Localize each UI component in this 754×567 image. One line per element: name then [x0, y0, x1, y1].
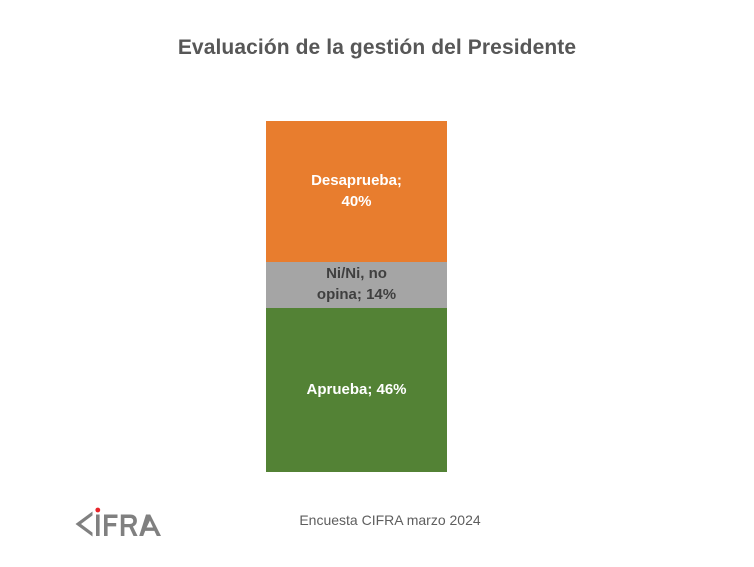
- cifra-logo: [72, 503, 164, 545]
- bar-segment-ni-ni-no-opina[interactable]: Ni/Ni, no opina; 14%: [266, 262, 447, 308]
- cifra-accent-dot-icon: [95, 508, 100, 513]
- bar-segment-desaprueba[interactable]: Desaprueba; 40%: [266, 121, 447, 262]
- cifra-letter-a: [139, 515, 161, 537]
- bar-segment-aprueba[interactable]: Aprueba; 46%: [266, 308, 447, 472]
- source-note: Encuesta CIFRA marzo 2024: [237, 512, 543, 528]
- slide-canvas: Evaluación de la gestión del Presidente …: [0, 0, 754, 567]
- cifra-letter-f: [104, 515, 118, 537]
- cifra-logo-mark: [72, 503, 164, 545]
- cifra-letter-r: [121, 515, 138, 537]
- cifra-chevron-icon: [76, 512, 93, 537]
- bar-segment-ni-ni-no-opina-label: Ni/Ni, no opina; 14%: [313, 264, 400, 305]
- cifra-letter-i: [96, 515, 100, 537]
- bar-segment-desaprueba-label: Desaprueba; 40%: [307, 171, 406, 212]
- page-title: Evaluación de la gestión del Presidente: [0, 36, 754, 60]
- stacked-bar-chart: Desaprueba; 40% Ni/Ni, no opina; 14% Apr…: [266, 121, 447, 472]
- bar-segment-aprueba-label: Aprueba; 46%: [302, 380, 410, 401]
